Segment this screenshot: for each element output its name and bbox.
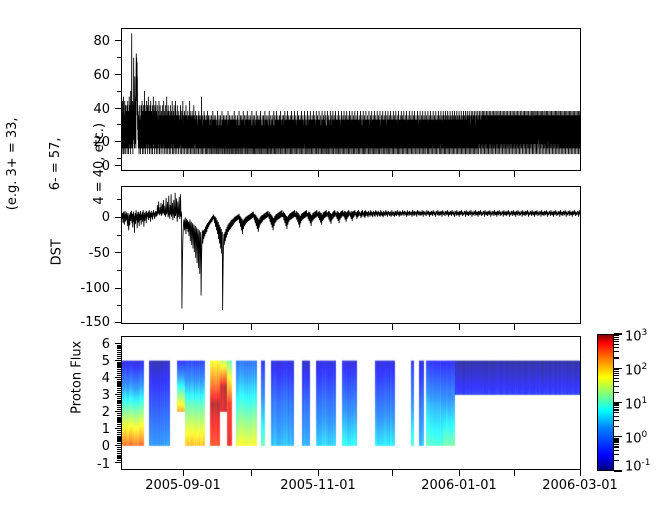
kp-ytick-40: 40	[82, 102, 110, 117]
flux-ytick-2: 2	[84, 405, 110, 420]
flux-xtick-5	[459, 470, 460, 476]
colorbar-minor-tick	[614, 337, 619, 338]
kp-xtick-2	[251, 171, 252, 177]
dst-ytick-0: 0	[78, 210, 110, 225]
colorbar-minor-tick	[614, 409, 619, 410]
flux-xtick-4	[392, 470, 393, 476]
flux-xtick-1	[183, 470, 184, 476]
dst-panel	[121, 186, 581, 324]
colorbar-minor-tick	[614, 381, 619, 382]
colorbar-minor-tick	[614, 335, 619, 336]
colorbar-minor-tick	[614, 351, 619, 352]
xtick-label-2: 2005-11-01	[268, 478, 368, 493]
kp-xtick-3	[318, 171, 319, 177]
dst-xtick-1	[183, 324, 184, 330]
xtick-label-3: 2006-01-01	[409, 478, 509, 493]
figure-canvas: Kp (e.g. 3+ = 33, 6- = 57, 4 = 40, etc.)…	[0, 0, 665, 523]
colorbar-gradient	[598, 335, 613, 470]
flux-xtick-6	[514, 470, 515, 476]
colorbar-major-tick	[614, 436, 622, 437]
colorbar-minor-tick	[614, 339, 619, 340]
kp-xtick-4	[392, 171, 393, 177]
dst-trace	[122, 187, 580, 323]
colorbar-minor-tick	[614, 407, 619, 408]
colorbar-label-1e0: 100	[625, 430, 647, 446]
colorbar-major-tick	[614, 402, 622, 403]
colorbar-label-1e1: 101	[625, 396, 647, 412]
flux-ytick-6: 6	[84, 337, 110, 352]
colorbar-minor-tick	[614, 438, 619, 439]
dst-ytick--50: -50	[72, 246, 110, 261]
colorbar-minor-tick	[614, 405, 619, 406]
colorbar-label-1e3: 103	[625, 328, 647, 344]
kp-ytick-20: 20	[82, 135, 110, 150]
flux-ytick-5: 5	[84, 354, 110, 369]
colorbar-minor-tick	[614, 450, 619, 451]
flux-xtick-2	[251, 470, 252, 476]
colorbar-minor-tick	[614, 441, 619, 442]
flux-xtick-3	[318, 470, 319, 476]
colorbar-minor-tick	[614, 341, 619, 342]
colorbar-minor-tick	[614, 412, 619, 413]
colorbar-major-tick	[614, 470, 622, 471]
xtick-label-1: 2005-09-01	[133, 478, 233, 493]
colorbar-minor-tick	[614, 403, 619, 404]
dst-xtick-2	[251, 324, 252, 330]
xtick-label-4: 2006-03-01	[530, 478, 630, 493]
kp-ytick-0: 0	[82, 159, 110, 174]
colorbar	[597, 334, 614, 471]
colorbar-minor-tick	[614, 375, 619, 376]
colorbar-minor-tick	[614, 373, 619, 374]
colorbar-minor-tick	[614, 344, 619, 345]
dst-xtick-5	[459, 324, 460, 330]
kp-ytick-60: 60	[82, 68, 110, 83]
dst-xtick-6	[514, 324, 515, 330]
kp-xtick-1	[183, 171, 184, 177]
colorbar-minor-tick	[614, 460, 619, 461]
colorbar-minor-tick	[614, 357, 619, 358]
dst-axis-label: DST	[51, 212, 66, 292]
proton-flux-heatmap	[122, 337, 580, 469]
colorbar-major-tick	[614, 333, 622, 334]
dst-xtick-4	[392, 324, 393, 330]
colorbar-minor-tick	[614, 347, 619, 348]
dst-xtick-3	[318, 324, 319, 330]
flux-xtick-7	[580, 470, 581, 476]
kp-panel	[121, 28, 581, 171]
colorbar-minor-tick	[614, 444, 619, 445]
colorbar-minor-tick	[614, 378, 619, 379]
colorbar-minor-tick	[614, 426, 619, 427]
flux-panel	[121, 336, 581, 470]
colorbar-major-tick	[614, 368, 622, 369]
flux-ytick-1: 1	[84, 422, 110, 437]
colorbar-minor-tick	[614, 386, 619, 387]
kp-xtick-5	[459, 171, 460, 177]
colorbar-minor-tick	[614, 416, 619, 417]
colorbar-minor-tick	[614, 369, 619, 370]
colorbar-minor-tick	[614, 454, 619, 455]
colorbar-minor-tick	[614, 371, 619, 372]
colorbar-minor-tick	[614, 392, 619, 393]
colorbar-label-1e-1: 10-1	[625, 458, 651, 474]
flux-ytick-3: 3	[84, 388, 110, 403]
flux-ytick--1: -1	[78, 457, 110, 472]
colorbar-label-1e2: 102	[625, 362, 647, 378]
flux-ytick-4: 4	[84, 371, 110, 386]
kp-xtick-6	[514, 171, 515, 177]
dst-ytick--100: -100	[66, 281, 110, 296]
colorbar-minor-tick	[614, 439, 619, 440]
flux-ytick-0: 0	[84, 439, 110, 454]
kp-trace	[122, 29, 580, 170]
kp-ytick-80: 80	[82, 34, 110, 49]
colorbar-minor-tick	[614, 446, 619, 447]
colorbar-minor-tick	[614, 420, 619, 421]
